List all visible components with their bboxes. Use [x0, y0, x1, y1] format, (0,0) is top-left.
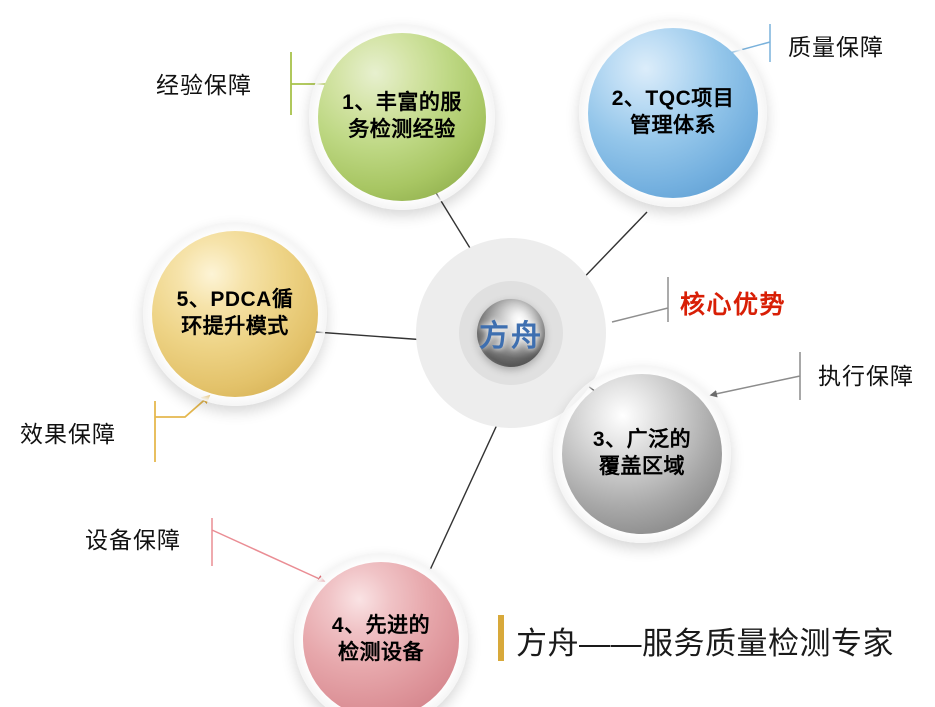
node-sphere-4[interactable]: 4、先进的 检测设备 — [303, 562, 459, 707]
node-2-ball — [588, 28, 758, 198]
callout-label-node-3: 执行保障 — [818, 357, 914, 391]
callout-label-node-1: 经验保障 — [156, 66, 252, 100]
node-sphere-1[interactable]: 1、丰富的服 务检测经验 — [318, 33, 486, 201]
node-5-ball — [152, 231, 318, 397]
center-sphere[interactable]: 方舟 — [477, 299, 545, 367]
node-4-ball — [303, 562, 459, 707]
core-advantage-label: 核心优势 — [680, 285, 786, 321]
center-sphere-label: 方舟 — [479, 311, 543, 355]
callout-label-node-4: 设备保障 — [85, 521, 181, 555]
footer-accent-bar — [498, 615, 504, 661]
callout-label-node-5: 效果保障 — [20, 415, 116, 449]
callout-connector-node-4 — [212, 518, 324, 581]
node-sphere-5[interactable]: 5、PDCA循 环提升模式 — [152, 231, 318, 397]
node-sphere-2[interactable]: 2、TQC项目 管理体系 — [588, 28, 758, 198]
node-3-ball — [562, 374, 722, 534]
node-sphere-3[interactable]: 3、广泛的 覆盖区域 — [562, 374, 722, 534]
node-1-ball — [318, 33, 486, 201]
callout-connector-node-5 — [155, 396, 209, 462]
core-advantage-connector — [612, 277, 668, 322]
callout-connector-node-3 — [711, 352, 800, 400]
footer-title: 方舟——服务质量检测专家 — [516, 618, 894, 663]
callout-label-node-2: 质量保障 — [788, 28, 884, 62]
diagram-canvas: 方舟 1、丰富的服 务检测经验 2、TQC项目 管理体系 3、广泛的 覆盖区域 … — [0, 0, 935, 707]
